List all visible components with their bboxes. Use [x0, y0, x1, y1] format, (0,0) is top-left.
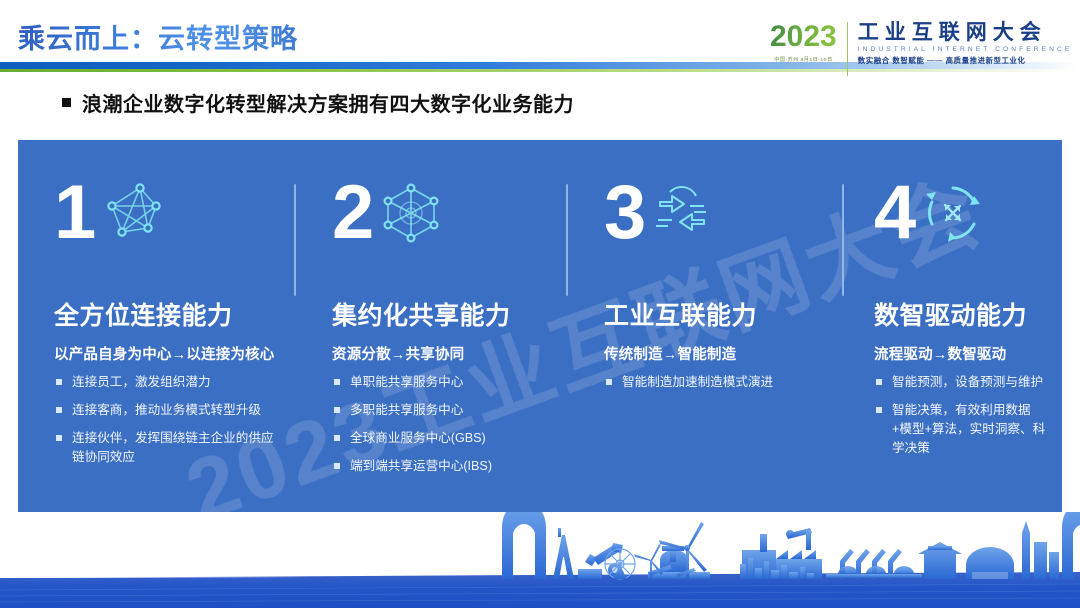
column-1-title: 全方位连接能力 — [54, 296, 280, 332]
column-2-number: 2 — [332, 178, 372, 248]
page-title: 乘云而上：云转型策略 — [18, 17, 298, 56]
list-item: 智能预测，设备预测与维护 — [874, 373, 1046, 392]
capability-panel: 2023工业互联网大会 1 — [18, 140, 1062, 512]
column-4-bullets: 智能预测，设备预测与维护 智能决策，有效利用数据+模型+算法，实时洞察、科学决策 — [874, 373, 1046, 458]
logo-name-cn: 工业互联网大会 — [858, 22, 1073, 44]
list-item: 端到端共享运营中心(IBS) — [332, 457, 552, 476]
list-item: 连接客商，推动业务模式转型升级 — [54, 401, 280, 420]
list-item: 多职能共享服务中心 — [332, 401, 552, 420]
capability-column-2: 2 — [296, 178, 568, 512]
logo-name-block: 工业互联网大会 INDUSTRIAL INTERNET CONFERENCE 数… — [858, 22, 1073, 66]
list-item: 全球商业服务中心(GBS) — [332, 429, 552, 448]
logo-year-block: 2023 中国·苏州 8月1日-10日 — [770, 22, 847, 63]
column-2-subtitle: 资源分散→共享协同 — [332, 343, 552, 364]
list-item: 连接员工，激发组织潜力 — [54, 373, 280, 392]
column-3-subtitle: 传统制造→智能制造 — [604, 343, 828, 364]
capability-column-4: 4 — [844, 178, 1062, 512]
logo-year-subtext: 中国·苏州 8月1日-10日 — [774, 56, 832, 63]
list-item: 单职能共享服务中心 — [332, 373, 552, 392]
column-2-title: 集约化共享能力 — [332, 296, 552, 332]
logo-year: 2023 — [770, 22, 837, 52]
column-3-head: 3 — [604, 178, 828, 278]
column-3-title: 工业互联能力 — [604, 296, 828, 332]
hexagon-hub-icon — [378, 180, 444, 246]
logo-slogan: 数实融合 数智赋能 —— 高质量推进新型工业化 — [858, 55, 1073, 66]
column-1-bullets: 连接员工，激发组织潜力 连接客商，推动业务模式转型升级 连接伙伴，发挥围绕链主企… — [54, 373, 280, 467]
list-item: 连接伙伴，发挥围绕链主企业的供应链协同效应 — [54, 429, 280, 467]
logo-divider — [847, 22, 848, 76]
column-4-head: 4 — [874, 178, 1046, 278]
column-2-head: 2 — [332, 178, 552, 278]
list-item: 智能制造加速制造模式演进 — [604, 373, 828, 392]
column-4-subtitle: 流程驱动→数智驱动 — [874, 343, 1046, 364]
subheading-text: 浪潮企业数字化转型解决方案拥有四大数字化业务能力 — [82, 88, 574, 117]
capability-columns: 1 — [18, 140, 1062, 512]
subheading: 浪潮企业数字化转型解决方案拥有四大数字化业务能力 — [62, 88, 574, 117]
column-3-number: 3 — [604, 178, 644, 248]
column-4-title: 数智驱动能力 — [874, 296, 1046, 332]
logo-name-en: INDUSTRIAL INTERNET CONFERENCE — [858, 46, 1073, 53]
cycle-arrows-icon — [920, 180, 986, 246]
column-1-head: 1 — [54, 178, 280, 278]
exchange-arrows-icon — [650, 180, 716, 246]
column-1-number: 1 — [54, 178, 94, 248]
footer-skyline — [0, 512, 1080, 608]
capability-column-1: 1 — [18, 178, 296, 512]
column-4-number: 4 — [874, 178, 914, 248]
capability-column-3: 3 工业互联能力 传统制 — [568, 178, 844, 512]
square-bullet-icon — [62, 98, 71, 107]
industrial-city-skyline-icon — [0, 512, 1080, 608]
conference-logo: 2023 中国·苏州 8月1日-10日 工业互联网大会 INDUSTRIAL I… — [770, 22, 1072, 76]
list-item: 智能决策，有效利用数据+模型+算法，实时洞察、科学决策 — [874, 401, 1046, 458]
network-graph-icon — [100, 180, 166, 246]
column-3-bullets: 智能制造加速制造模式演进 — [604, 373, 828, 392]
slide-root: 乘云而上：云转型策略 2023 中国·苏州 8月1日-10日 工业互联网大会 I… — [0, 0, 1080, 608]
column-2-bullets: 单职能共享服务中心 多职能共享服务中心 全球商业服务中心(GBS) 端到端共享运… — [332, 373, 552, 476]
column-1-subtitle: 以产品自身为中心→以连接为核心 — [54, 343, 280, 364]
